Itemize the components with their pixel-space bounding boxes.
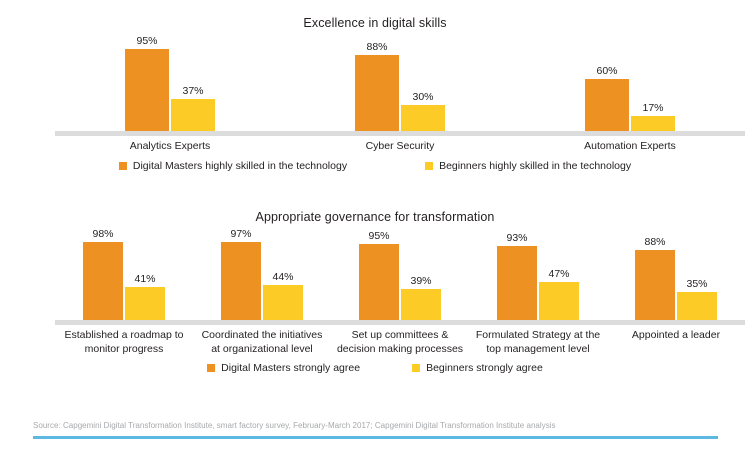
category-label: Cyber Security [285, 140, 515, 154]
bar-value-label: 37% [171, 85, 215, 99]
bar-group: 88%30% [285, 36, 515, 131]
bar-group: 98%41% [55, 230, 193, 320]
legend-swatch-icon-secondary [412, 364, 420, 372]
chart-2-bar-groups: 98%41%97%44%95%39%93%47%88%35% [55, 230, 745, 320]
legend-item-digital-masters-agree: Digital Masters strongly agree [207, 362, 360, 374]
legend-label-secondary: Beginners strongly agree [426, 362, 543, 374]
bar-secondary: 47% [539, 282, 579, 320]
bar-group: 88%35% [607, 230, 745, 320]
bar-secondary: 44% [263, 285, 303, 320]
bar-primary: 88% [635, 250, 675, 320]
category-label: Appointed a leader [607, 329, 745, 356]
chart-1-plot-area: 95%37%88%30%60%17% [55, 36, 745, 136]
category-label: Coordinated the initiatives at organizat… [193, 329, 331, 356]
category-label: Automation Experts [515, 140, 745, 154]
chart-excellence-in-digital-skills: Excellence in digital skills 95%37%88%30… [0, 14, 750, 172]
bar-pair: 93%47% [497, 246, 579, 320]
bar-secondary: 41% [125, 287, 165, 320]
bar-primary: 97% [221, 242, 261, 320]
bar-primary: 93% [497, 246, 537, 320]
bar-value-label: 60% [585, 65, 629, 79]
legend-label-primary: Digital Masters highly skilled in the te… [133, 160, 347, 172]
bar-group: 60%17% [515, 36, 745, 131]
category-label: Established a roadmap to monitor progres… [55, 329, 193, 356]
bar-group: 95%37% [55, 36, 285, 131]
bar-primary: 95% [359, 244, 399, 320]
bar-value-label: 95% [125, 35, 169, 49]
legend-item-beginners-agree: Beginners strongly agree [412, 362, 543, 374]
chart-1-legend: Digital Masters highly skilled in the te… [0, 160, 750, 172]
category-label: Set up committees & decision making proc… [331, 329, 469, 356]
bar-secondary: 39% [401, 289, 441, 320]
legend-label-secondary: Beginners highly skilled in the technolo… [439, 160, 631, 172]
bar-pair: 98%41% [83, 242, 165, 320]
legend-item-digital-masters: Digital Masters highly skilled in the te… [119, 160, 347, 172]
bar-secondary: 37% [171, 99, 215, 131]
bar-pair: 88%30% [355, 55, 445, 131]
legend-swatch-icon-primary [207, 364, 215, 372]
bar-pair: 95%39% [359, 244, 441, 320]
bar-secondary: 30% [401, 105, 445, 131]
bar-pair: 88%35% [635, 250, 717, 320]
bar-primary: 60% [585, 79, 629, 131]
footer-accent-rule [33, 436, 718, 439]
bar-value-label: 17% [631, 102, 675, 116]
chart-1-title: Excellence in digital skills [0, 14, 750, 32]
category-label: Analytics Experts [55, 140, 285, 154]
chart-2-title: Appropriate governance for transformatio… [0, 208, 750, 226]
bar-primary: 98% [83, 242, 123, 320]
bar-value-label: 88% [355, 41, 399, 55]
bar-pair: 60%17% [585, 79, 675, 131]
bar-pair: 95%37% [125, 49, 215, 131]
bar-value-label: 98% [83, 228, 123, 242]
bar-value-label: 30% [401, 91, 445, 105]
source-note: Source: Capgemini Digital Transformation… [33, 421, 556, 430]
chart-1-category-labels: Analytics ExpertsCyber SecurityAutomatio… [55, 136, 745, 154]
bar-value-label: 44% [263, 271, 303, 285]
bar-group: 97%44% [193, 230, 331, 320]
bar-value-label: 95% [359, 230, 399, 244]
bar-primary: 95% [125, 49, 169, 131]
chart-2-plot-area: 98%41%97%44%95%39%93%47%88%35% [55, 230, 745, 325]
bar-value-label: 93% [497, 232, 537, 246]
bar-secondary: 35% [677, 292, 717, 320]
bar-secondary: 17% [631, 116, 675, 131]
bar-group: 93%47% [469, 230, 607, 320]
bar-pair: 97%44% [221, 242, 303, 320]
chart-1-bar-groups: 95%37%88%30%60%17% [55, 36, 745, 131]
bar-primary: 88% [355, 55, 399, 131]
bar-value-label: 88% [635, 236, 675, 250]
chart-2-legend: Digital Masters strongly agree Beginners… [0, 362, 750, 374]
legend-label-primary: Digital Masters strongly agree [221, 362, 360, 374]
legend-swatch-icon-secondary [425, 162, 433, 170]
chart-2-category-labels: Established a roadmap to monitor progres… [55, 325, 745, 356]
chart-appropriate-governance-for-transformation: Appropriate governance for transformatio… [0, 208, 750, 374]
bar-value-label: 35% [677, 278, 717, 292]
bar-value-label: 39% [401, 275, 441, 289]
legend-item-beginners: Beginners highly skilled in the technolo… [425, 160, 631, 172]
legend-swatch-icon-primary [119, 162, 127, 170]
bar-value-label: 47% [539, 268, 579, 282]
bar-value-label: 41% [125, 273, 165, 287]
category-label: Formulated Strategy at the top managemen… [469, 329, 607, 356]
chart-page: Excellence in digital skills 95%37%88%30… [0, 0, 750, 450]
bar-group: 95%39% [331, 230, 469, 320]
bar-value-label: 97% [221, 228, 261, 242]
